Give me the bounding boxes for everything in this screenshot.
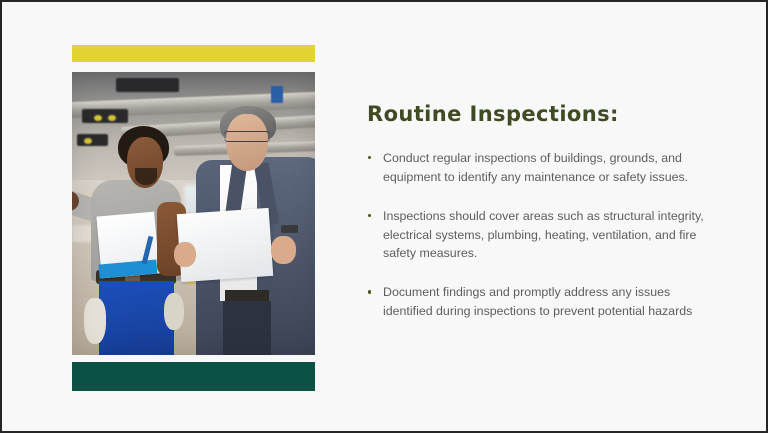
photo-vignette [72,72,315,355]
text-column: Routine Inspections: Conduct regular ins… [367,102,719,321]
bullet-item: Inspections should cover areas such as s… [367,207,719,264]
bullet-item: Document findings and promptly address a… [367,283,719,321]
bullet-item: Conduct regular inspections of buildings… [367,149,719,187]
photo-scene [72,72,315,355]
bottom-accent-bar [72,362,315,391]
inspection-photo [72,72,315,355]
bullet-list: Conduct regular inspections of buildings… [367,149,719,321]
slide-canvas: Routine Inspections: Conduct regular ins… [0,0,768,433]
top-accent-bar [72,45,315,62]
page-title: Routine Inspections: [367,102,719,126]
